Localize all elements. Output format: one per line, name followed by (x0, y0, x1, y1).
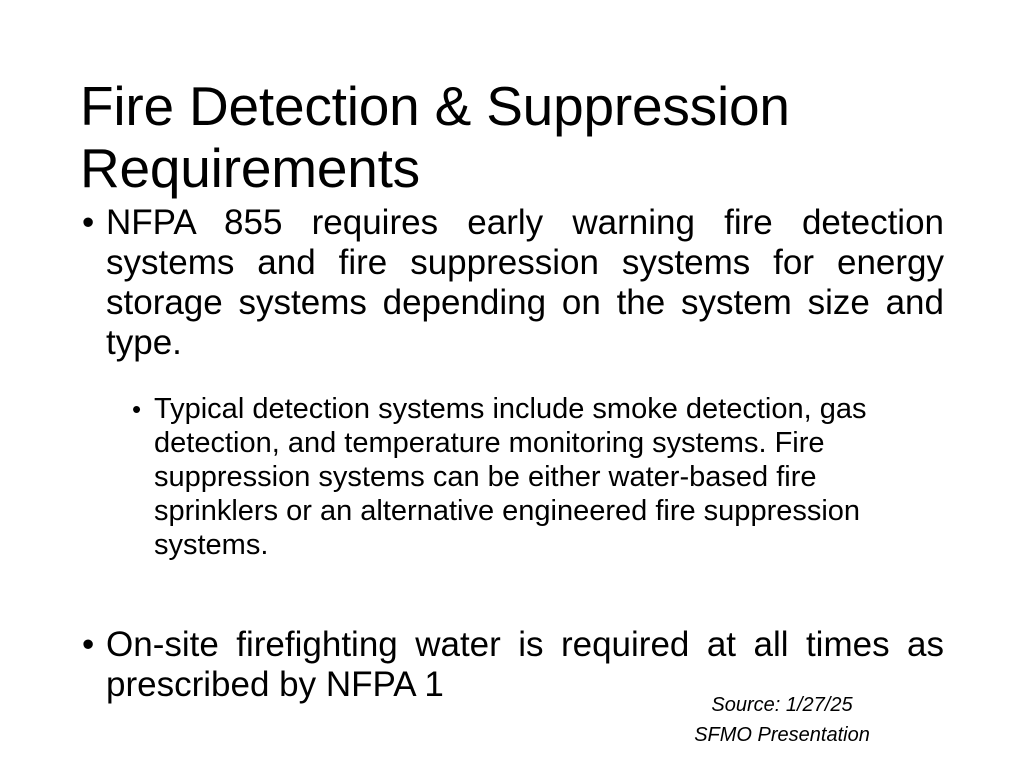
bullet-item-secondary-1: • Typical detection systems include smok… (130, 392, 944, 562)
slide: Fire Detection & Suppression Requirement… (0, 0, 1024, 768)
bullet-marker-icon: • (82, 625, 94, 665)
bullet-marker-icon: • (132, 392, 141, 426)
source-line-date: Source: 1/27/25 (622, 690, 942, 720)
source-attribution: Source: 1/27/25 SFMO Presentation (622, 690, 942, 750)
bullet-sublist: • Typical detection systems include smok… (80, 392, 944, 562)
page-title: Fire Detection & Suppression Requirement… (80, 75, 960, 199)
bullet-text: Typical detection systems include smoke … (154, 393, 866, 561)
paragraph-spacer (80, 591, 944, 625)
bullet-item-primary-1: • NFPA 855 requires early warning fire d… (80, 203, 944, 363)
slide-body: • NFPA 855 requires early warning fire d… (80, 203, 944, 705)
source-line-name: SFMO Presentation (622, 720, 942, 750)
bullet-marker-icon: • (82, 203, 94, 243)
bullet-text: NFPA 855 requires early warning fire det… (106, 203, 944, 362)
